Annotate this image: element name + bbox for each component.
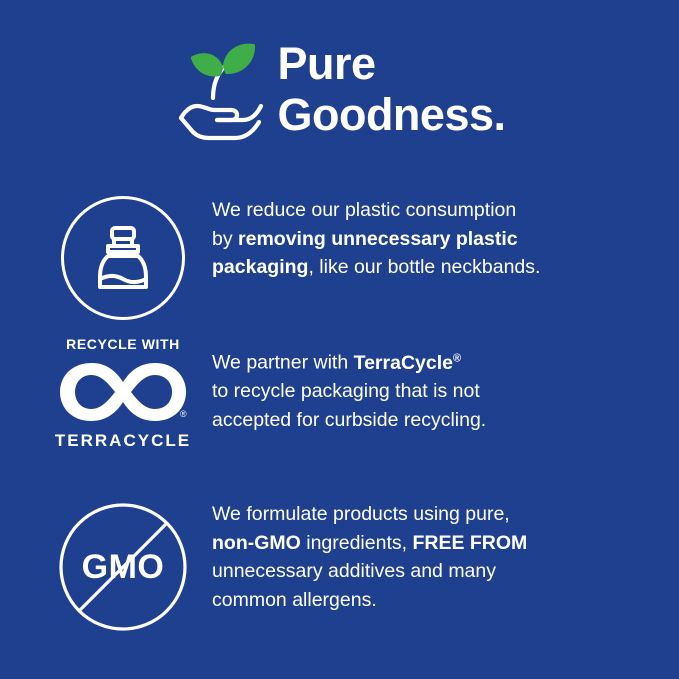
benefit-icon-cell: GMO [48,500,198,634]
page-title-line-2: Goodness. [277,89,505,140]
benefit-text-line: by removing unnecessary plastic [212,225,648,254]
hand-holding-leaves-icon [173,32,269,142]
benefit-row-plastic: We reduce our plastic consumption by rem… [48,196,648,320]
benefit-text-line: non-GMO ingredients, FREE FROM [212,529,648,558]
benefit-text-line: to recycle packaging that is not [212,377,648,406]
terracycle-logo-icon: RECYCLE WITH ® TERRACYCLE [48,336,198,451]
no-gmo-icon: GMO [56,500,190,634]
benefit-text-line: accepted for curbside recycling. [212,406,648,435]
benefit-text-line: packaging, like our bottle neckbands. [212,253,648,282]
benefit-text-line: unnecessary additives and many [212,557,648,586]
benefit-text-plastic: We reduce our plastic consumption by rem… [198,196,648,282]
benefit-icon-cell [48,196,198,320]
pure-goodness-poster: Pure Goodness. We reduce our plastic co [0,0,679,679]
page-title-line-1: Pure [277,38,505,89]
poster-header: Pure Goodness. [0,26,679,156]
benefit-text-line: We partner with TerraCycle® [212,344,648,377]
benefit-text-line: common allergens. [212,586,648,615]
page-title: Pure Goodness. [277,38,505,140]
benefit-row-gmo: GMO We formulate products using pure, no… [48,500,648,634]
benefit-text-terracycle: We partner with TerraCycle® to recycle p… [198,344,648,434]
plastic-bottle-in-circle-icon [61,196,185,320]
svg-text:®: ® [180,409,187,419]
benefit-text-gmo: We formulate products using pure, non-GM… [198,500,648,614]
terracycle-top-label: RECYCLE WITH [66,336,180,352]
benefit-text-line: We formulate products using pure, [212,500,648,529]
benefit-text-line: We reduce our plastic consumption [212,196,648,225]
terracycle-bottom-label: TERRACYCLE [55,431,191,451]
benefit-row-terracycle: RECYCLE WITH ® TERRACYCLE [48,344,648,451]
no-gmo-label: GMO [56,500,190,634]
benefit-icon-cell: RECYCLE WITH ® TERRACYCLE [48,344,198,451]
